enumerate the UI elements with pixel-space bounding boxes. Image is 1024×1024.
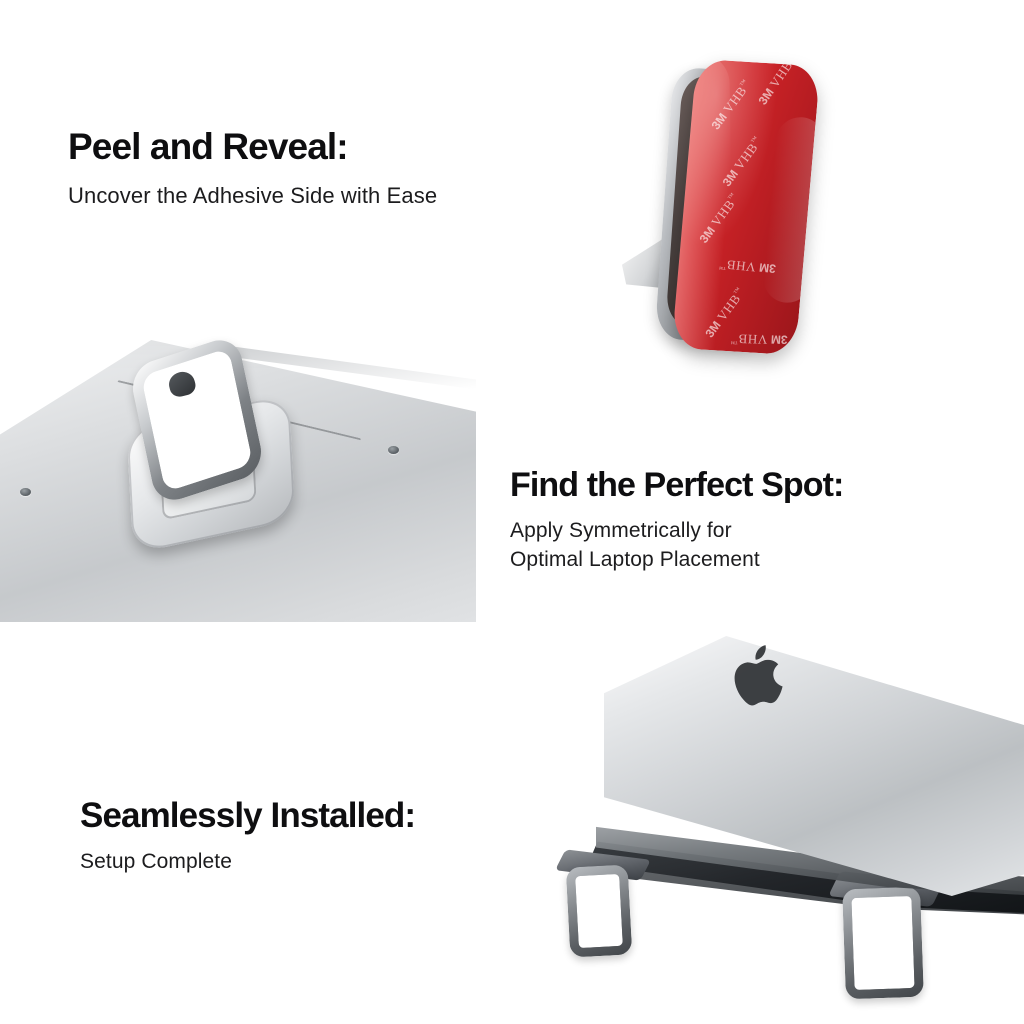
step-spot-heading: Find the Perfect Spot: [510,468,843,504]
vhb-mark: 3M VHB™ [730,330,788,347]
vhb-red-liner: 3M VHB™ 3M VHB™ 3M VHB™ 3M VHB™ 3M VHB™ … [671,59,820,355]
infographic-canvas: Peel and Reveal: Uncover the Adhesive Si… [0,0,1024,1024]
vhb-mark: 3M VHB™ [755,59,801,108]
step-peel-subheading: Uncover the Adhesive Side with Ease [68,181,437,210]
stand-leg-right [842,887,924,1000]
installed-photo-alt: Space grey MacBook resting on two deploy… [496,620,497,621]
macbook-on-stand-photo: Space grey MacBook resting on two deploy… [496,620,1024,1024]
adhesive-pad-peeling-photo: 3M VHB™ 3M VHB™ 3M VHB™ 3M VHB™ 3M VHB™ … [612,52,872,342]
step-seamlessly-installed-text: Seamlessly Installed: Setup Complete [80,798,415,875]
step-spot-subheading-line2: Optimal Laptop Placement [510,546,843,574]
step-find-the-perfect-spot-text: Find the Perfect Spot: Apply Symmetrical… [510,468,843,574]
laptop-screw [20,488,31,496]
step-installed-subheading: Setup Complete [80,848,415,876]
attach-photo-alt: Close-up of the adhesive foot stuck to t… [0,336,1,337]
stand-leg-left [566,864,633,957]
step-spot-subheading-line1: Apply Symmetrically for [510,517,843,545]
apple-logo-icon [728,639,796,712]
step-peel-heading: Peel and Reveal: [68,128,437,167]
foot-attached-to-laptop-photo: Close-up of the adhesive foot stuck to t… [0,336,476,622]
step-peel-and-reveal-text: Peel and Reveal: Uncover the Adhesive Si… [68,128,437,210]
peel-photo-alt: Silver laptop stand foot with red 3M VHB… [612,52,613,53]
step-installed-heading: Seamlessly Installed: [80,798,415,835]
laptop-screw [388,446,399,454]
